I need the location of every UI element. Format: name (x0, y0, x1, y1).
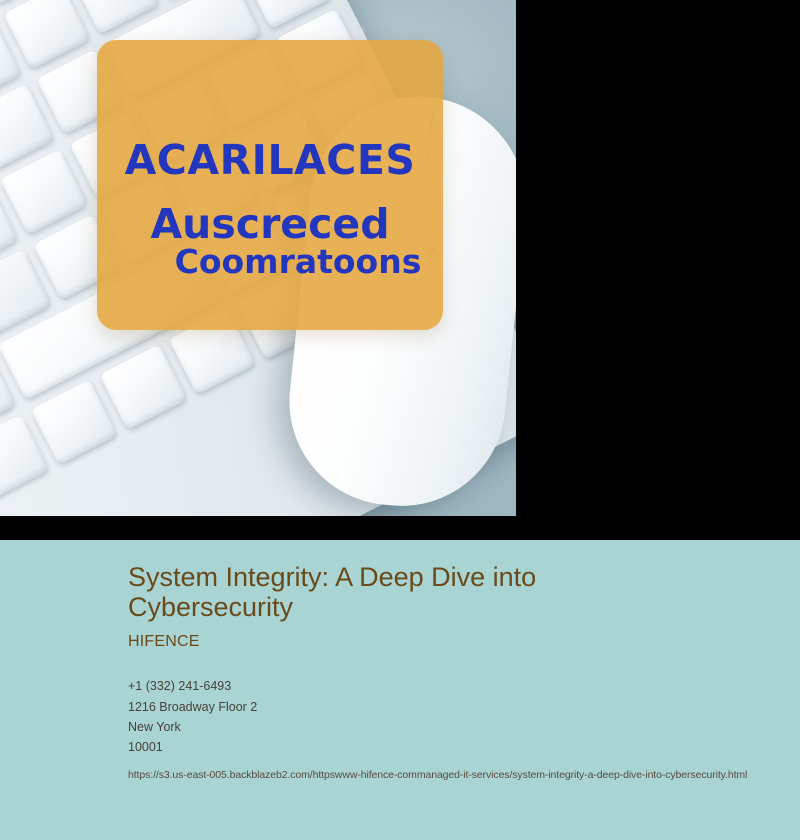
contact-street: 1216 Broadway Floor 2 (128, 697, 790, 717)
info-content: System Integrity: A Deep Dive into Cyber… (128, 562, 790, 781)
info-panel: System Integrity: A Deep Dive into Cyber… (0, 540, 800, 840)
contact-city: New York (128, 717, 790, 737)
overlay-headline-secondary: Auscreced (97, 204, 443, 245)
source-url: https://s3.us-east-005.backblazeb2.com/h… (128, 769, 790, 781)
overlay-card: ACARILACES Auscreced Coomratoons (97, 40, 443, 330)
hero-photo: ACARILACES Auscreced Coomratoons (0, 0, 516, 516)
overlay-headline-tertiary: Coomratoons (97, 245, 443, 278)
keyboard-key (30, 380, 117, 465)
page-root: ACARILACES Auscreced Coomratoons System … (0, 0, 800, 840)
page-title: System Integrity: A Deep Dive into Cyber… (128, 562, 648, 622)
overlay-card-text: ACARILACES Auscreced Coomratoons (97, 40, 443, 330)
contact-block: +1 (332) 241-6493 1216 Broadway Floor 2 … (128, 676, 790, 757)
contact-zip: 10001 (128, 737, 790, 757)
contact-phone: +1 (332) 241-6493 (128, 676, 790, 696)
brand-name: HIFENCE (128, 633, 790, 651)
overlay-headline-primary: ACARILACES (97, 140, 443, 181)
keyboard-key (0, 149, 87, 234)
keyboard-key (99, 345, 186, 430)
